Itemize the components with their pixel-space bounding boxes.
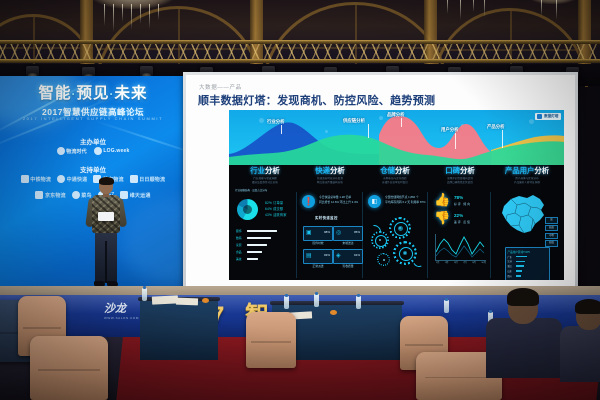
chandelier xyxy=(88,0,178,26)
table-row: 江苏 xyxy=(508,259,548,263)
presentation-slide: 大数据——产品 顺丰数据灯塔：发现商机、防控风险、趋势预测 数据灯塔 xyxy=(186,75,575,289)
backdrop-headline: 智能·预见·未来 xyxy=(6,86,180,102)
audience-chair xyxy=(246,312,296,368)
industry-bar-row: 数码 xyxy=(236,236,271,240)
dashboard-badge: 数据灯塔 xyxy=(535,113,561,120)
reputation-line-chart: 1月3月5月7月9月10月 xyxy=(435,234,486,261)
thumbs-up-icon: 👍 xyxy=(434,193,450,206)
info-icon: ❗ xyxy=(302,195,315,208)
snack-plate xyxy=(330,310,337,315)
map-legend: 高 较高 中等 较低 xyxy=(545,217,558,248)
table-row: 四川 xyxy=(508,274,548,278)
conference-table xyxy=(140,300,218,360)
badge-mark-icon xyxy=(537,114,542,119)
industry-bar-row: 食品 xyxy=(236,250,262,254)
water-bottle xyxy=(444,300,449,313)
logo-mark-icon xyxy=(72,191,80,199)
organizer-logo-row: 物流时代 LOG.week xyxy=(0,147,186,155)
supporter-label: 支持单位 xyxy=(0,164,186,174)
audience-chair xyxy=(30,336,108,400)
speaker-held-card xyxy=(98,212,114,221)
slide-title: 顺丰数据灯塔：发现商机、防控风险、趋势预测 xyxy=(198,92,435,108)
table-row: 广东 xyxy=(508,255,548,259)
sponsor-logo: LOG.week xyxy=(94,147,130,155)
audience-member xyxy=(486,288,562,378)
banner-logo: 沙龙 WWW.SALON.COM xyxy=(104,304,139,320)
nav-item-product-user[interactable]: 产品用户分析 用户画像与区域分布 产品偏好人群特征洞察 xyxy=(493,167,561,184)
screenshot-root: 智能·预见·未来 2017智慧供应链高峰论坛 2017 INTELLIGENT … xyxy=(0,0,600,400)
logo-mark-icon xyxy=(57,147,65,155)
panel-warehouse: ◧ 全国仓储网络节点 1,860 个 平均库存周转 6.2 天 利用率 87% xyxy=(365,189,425,280)
hero-area-chart: 数据灯塔 行业分析 供应链分析 品牌分析 用户分析 产品分析 xyxy=(229,110,564,165)
slide-kicker: 大数据——产品 xyxy=(199,83,242,91)
water-bottle xyxy=(284,296,289,309)
gear-icon xyxy=(377,253,390,266)
industry-donut-chart xyxy=(237,199,258,220)
water-bottle xyxy=(142,288,147,301)
express-tile[interactable]: ◈91%签收质量 xyxy=(333,249,363,264)
dashboard: 数据灯塔 行业分析 供应链分析 品牌分析 用户分析 产品分析 行业分析 行业规模… xyxy=(229,110,564,280)
nav-item-express[interactable]: 快递分析 快递流向时效分布监测 网点揽派件量结构分析 xyxy=(300,167,360,184)
snack-plate xyxy=(202,298,209,303)
table-row: 浙江 xyxy=(508,264,548,268)
nav-item-industry[interactable]: 行业分析 行业规模与增速洞察 细分品类趋势对比分析 xyxy=(235,167,295,184)
speaker-presenter xyxy=(86,178,126,286)
gear-icon xyxy=(389,217,411,239)
industry-bar-row: 家居 xyxy=(236,243,267,247)
line-chart-xticks: 1月3月5月7月9月10月 xyxy=(436,260,486,264)
dashboard-nav: 行业分析 行业规模与增速洞察 细分品类趋势对比分析 快递分析 快递流向时效分布监… xyxy=(229,165,564,189)
chandelier xyxy=(524,0,582,16)
organizer-label: 主办单位 xyxy=(0,136,186,146)
water-bottle xyxy=(356,296,361,309)
panel-reputation: 👍 78% 好评 倾向 👎 22% 差评 反馈 1月3月5月7月9月10月 xyxy=(430,189,488,280)
logo-mark-icon xyxy=(57,175,65,183)
logo-mark-icon xyxy=(94,147,102,155)
nav-item-reputation[interactable]: 口碑分析 全网评价情感倾向识别 品牌口碑舆情走势追踪 xyxy=(430,167,490,184)
paper-sheet xyxy=(176,298,198,306)
chandelier xyxy=(432,0,502,14)
sponsor-logo: 物流时代 xyxy=(57,147,87,155)
table-row: 山东 xyxy=(508,269,548,273)
warehouse-icon: ◧ xyxy=(368,195,381,208)
express-tile[interactable]: ▣98%揽件时效 xyxy=(303,226,333,241)
paper-sheet xyxy=(152,295,178,304)
logo-mark-icon xyxy=(21,175,29,183)
panel-product-user: 高 较高 中等 较低 产品用户区域TOP5 广东 江苏 浙江 山东 四川 xyxy=(493,189,561,280)
industry-bar-row: 美妆 xyxy=(236,257,258,261)
logo-mark-icon xyxy=(35,191,43,199)
hero-label-supplychain: 供应链分析 xyxy=(343,118,365,124)
water-bottle xyxy=(314,294,319,307)
region-rank-table: 产品用户区域TOP5 广东 江苏 浙江 山东 四川 xyxy=(505,247,550,280)
china-map xyxy=(497,193,549,235)
logo-mark-icon xyxy=(130,175,138,183)
audience-member xyxy=(560,300,600,380)
backdrop-subtitle-en: 2017 INTELLIGENT SUPPLY CHAIN SUMMIT xyxy=(6,116,180,121)
speaker-legs xyxy=(95,231,117,283)
express-tile[interactable]: ▤93%正常派送 xyxy=(303,249,333,264)
thumbs-down-icon: 👎 xyxy=(434,211,450,224)
sponsor-logo: 中铁物流 xyxy=(21,175,51,183)
sponsor-logo: 日日顺物流 xyxy=(130,175,166,183)
industry-bar-row: 服饰 xyxy=(236,229,277,233)
lighting-truss xyxy=(0,59,600,63)
panel-industry: 行业规模结构 · 品类占比分布 82% 订单量 64% 成交额 43% 活跃商家… xyxy=(233,189,295,280)
lighting-truss-web xyxy=(0,44,600,60)
express-tile[interactable]: ◎95%末端送达 xyxy=(333,226,363,241)
panel-express: ❗ 今日快递总单量 1.28 亿单 同比增长 12.6% 环比上升 3.4% 实… xyxy=(299,189,361,280)
nav-item-warehouse[interactable]: 仓储分析 仓网布局与库存周转 仓储作业效率实时监控 xyxy=(365,167,425,184)
sponsor-logo: 京东物流 xyxy=(35,191,65,199)
speaker-hair xyxy=(99,177,114,185)
sponsor-logo: 中通快递 xyxy=(57,175,87,183)
